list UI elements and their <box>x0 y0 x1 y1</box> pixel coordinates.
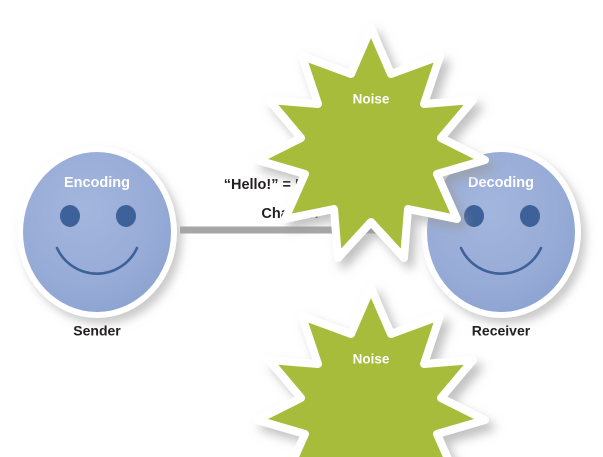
sender-inner-label: Encoding <box>64 175 130 191</box>
receiver-outer-label: Receiver <box>472 323 531 339</box>
sender-left-eye-icon <box>60 205 80 227</box>
receiver-right-eye-icon <box>520 205 540 227</box>
diagram-canvas: Encoding Sender Decoding Receiver “Hello… <box>0 0 603 457</box>
sender-right-eye-icon <box>116 205 136 227</box>
noise-bottom-label: Noise <box>353 352 390 367</box>
noise-bottom-star-icon <box>257 288 485 457</box>
receiver-left-eye-icon <box>464 205 484 227</box>
receiver-inner-label: Decoding <box>468 175 534 191</box>
communication-model-diagram: Encoding Sender Decoding Receiver “Hello… <box>0 0 603 457</box>
noise-top-label: Noise <box>353 92 390 107</box>
sender-outer-label: Sender <box>73 323 121 339</box>
sender-group[interactable]: Encoding Sender <box>17 146 177 339</box>
noise-bottom-group[interactable]: Noise <box>257 288 485 457</box>
